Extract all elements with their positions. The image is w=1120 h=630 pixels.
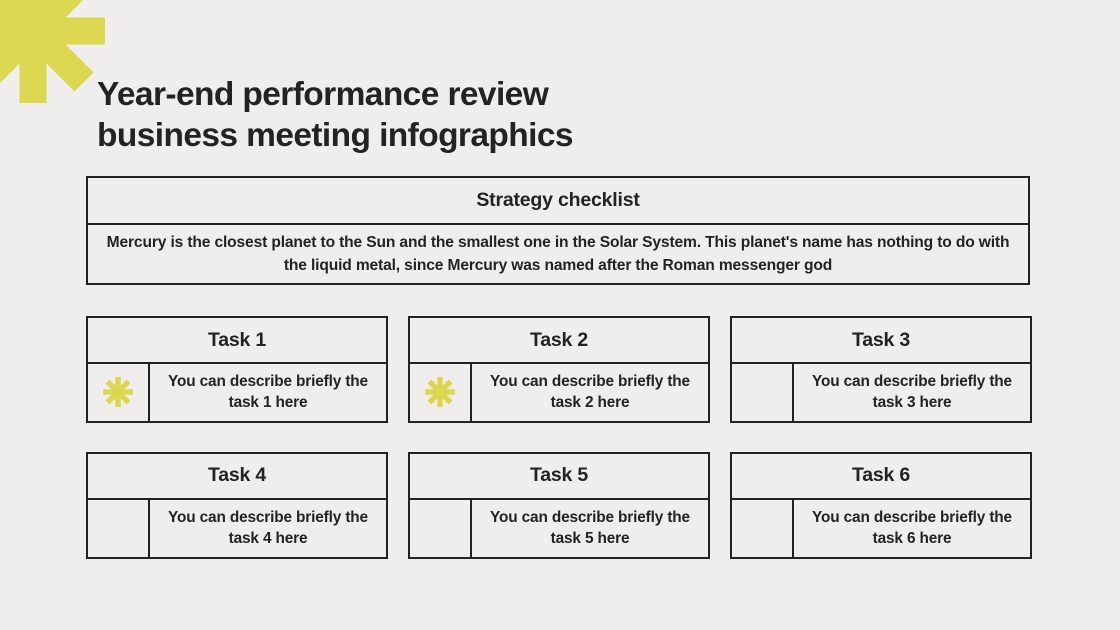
task-title: Task 6 (852, 464, 910, 487)
task-description: You can describe briefly the task 1 here (156, 371, 380, 413)
strategy-checklist: Strategy checklist Mercury is the closes… (86, 176, 1030, 285)
task-checkbox[interactable] (88, 364, 150, 421)
task-card-header: Task 2 (408, 316, 710, 364)
task-card-body: You can describe briefly the task 4 here (86, 498, 388, 559)
task-card-header: Task 5 (408, 452, 710, 500)
slide-canvas: Year-end performance review business mee… (0, 0, 1120, 630)
task-card[interactable]: Task 1You can describe briefly the task … (86, 316, 388, 423)
task-grid: Task 1You can describe briefly the task … (86, 316, 1030, 559)
checklist-body: Mercury is the closest planet to the Sun… (86, 223, 1030, 285)
asterisk-icon (0, 0, 108, 106)
task-description-cell: You can describe briefly the task 4 here (150, 500, 386, 557)
task-checkbox[interactable] (732, 500, 794, 557)
checklist-body-text: Mercury is the closest planet to the Sun… (100, 231, 1016, 277)
asterisk-icon (101, 375, 135, 409)
asterisk-icon (423, 375, 457, 409)
task-description-cell: You can describe briefly the task 5 here (472, 500, 708, 557)
checklist-header: Strategy checklist (86, 176, 1030, 225)
task-title: Task 4 (208, 464, 266, 487)
task-card[interactable]: Task 3You can describe briefly the task … (730, 316, 1032, 423)
task-checkbox[interactable] (410, 500, 472, 557)
task-title: Task 2 (530, 329, 588, 352)
task-title: Task 5 (530, 464, 588, 487)
task-description: You can describe briefly the task 3 here (800, 371, 1024, 413)
task-description: You can describe briefly the task 2 here (478, 371, 702, 413)
task-card-body: You can describe briefly the task 1 here (86, 362, 388, 423)
task-title: Task 1 (208, 329, 266, 352)
task-card-header: Task 1 (86, 316, 388, 364)
task-card-body: You can describe briefly the task 3 here (730, 362, 1032, 423)
task-card[interactable]: Task 6You can describe briefly the task … (730, 452, 1032, 559)
task-card-header: Task 4 (86, 452, 388, 500)
task-checkbox[interactable] (88, 500, 150, 557)
task-card-header: Task 6 (730, 452, 1032, 500)
task-checkbox[interactable] (410, 364, 472, 421)
page-title-line-1: Year-end performance review (97, 74, 957, 115)
task-card-body: You can describe briefly the task 5 here (408, 498, 710, 559)
task-card-body: You can describe briefly the task 6 here (730, 498, 1032, 559)
task-card-header: Task 3 (730, 316, 1032, 364)
task-checkbox[interactable] (732, 364, 794, 421)
task-description: You can describe briefly the task 6 here (800, 507, 1024, 549)
task-title: Task 3 (852, 329, 910, 352)
task-description: You can describe briefly the task 5 here (478, 507, 702, 549)
task-card[interactable]: Task 5You can describe briefly the task … (408, 452, 710, 559)
task-card-body: You can describe briefly the task 2 here (408, 362, 710, 423)
task-description-cell: You can describe briefly the task 6 here (794, 500, 1030, 557)
task-card[interactable]: Task 4You can describe briefly the task … (86, 452, 388, 559)
task-description: You can describe briefly the task 4 here (156, 507, 380, 549)
page-title-line-2: business meeting infographics (97, 115, 957, 156)
task-description-cell: You can describe briefly the task 2 here (472, 364, 708, 421)
task-description-cell: You can describe briefly the task 1 here (150, 364, 386, 421)
task-card[interactable]: Task 2You can describe briefly the task … (408, 316, 710, 423)
task-description-cell: You can describe briefly the task 3 here (794, 364, 1030, 421)
checklist-heading: Strategy checklist (476, 189, 639, 212)
page-title: Year-end performance review business mee… (97, 74, 957, 156)
